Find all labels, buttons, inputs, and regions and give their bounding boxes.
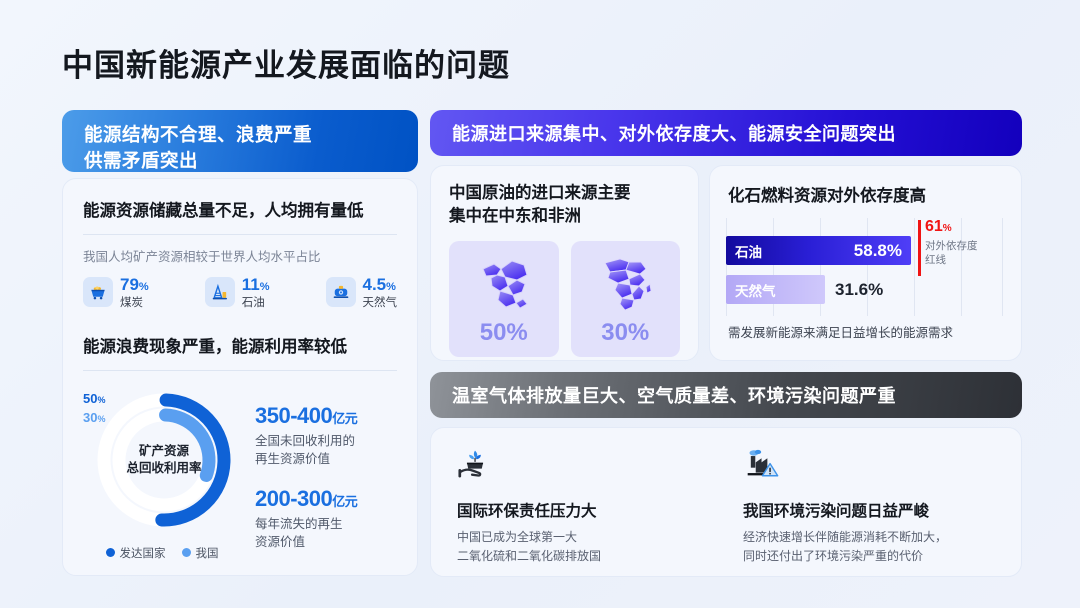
fossil-chart-footnote: 需发展新能源来满足日益增长的能源需求 [728, 322, 1003, 341]
bar-oil-label: 石油 [735, 241, 762, 261]
stat-coal-text: 79% 煤炭 [120, 276, 149, 309]
bar-gas-label: 天然气 [735, 280, 776, 300]
legend-item-china: 我国 [182, 545, 219, 561]
left-header-line2: 供需矛盾突出 [84, 148, 418, 174]
dependency-redline [918, 220, 921, 276]
figure-unrecycled-desc: 全国未回收利用的 再生资源价值 [255, 432, 357, 468]
stat-gas-label: 天然气 [363, 297, 398, 309]
donut-legend: 发达国家 我国 [79, 545, 245, 561]
stat-gas: 4.5% 天然气 [326, 276, 398, 309]
fossil-dependency-bar-chart: 石油 58.8% 天然气 31.6% 61% 对外依存度 红线 [726, 218, 1007, 316]
env-desc-international: 中国已成为全球第一大 二氧化硫和二氧化碳排放国 [457, 528, 713, 565]
right-section-header: 能源进口来源集中、对外依存度大、能源安全问题突出 [430, 110, 1022, 156]
bar-gas: 天然气 [726, 275, 825, 304]
bar-gas-value: 31.6% [835, 280, 883, 300]
env-item-domestic-pollution: 我国环境污染问题日益严峻 经济快速增长伴随能源消耗不断加大， 同时还付出了环境污… [743, 448, 999, 565]
import-sources-card: 中国原油的进口来源主要 集中在中东和非洲 [430, 165, 699, 361]
stat-gas-value: 4.5% [363, 276, 398, 294]
donut-center-line1: 矿产资源 [89, 443, 239, 460]
left-section-header: 能源结构不合理、浪费严重 供需矛盾突出 [62, 110, 418, 172]
stat-coal-value: 79% [120, 276, 149, 294]
infographic-root: 中国新能源产业发展面临的问题 能源结构不合理、浪费严重 供需矛盾突出 能源资源储… [0, 0, 1080, 608]
donut-center-label: 矿产资源 总回收利用率 [89, 443, 239, 477]
figure-lost-number: 200-300亿元 [255, 486, 357, 512]
fossil-dependency-title: 化石燃料资源对外依存度高 [728, 182, 1003, 206]
stat-gas-text: 4.5% 天然气 [363, 276, 398, 309]
bar-oil: 石油 58.8% [726, 236, 911, 265]
donut-outer-label: 50% [83, 391, 105, 406]
import-region-boxes: 50% [431, 229, 698, 357]
middle-east-map-icon [472, 253, 536, 315]
env-title-domestic: 我国环境污染问题日益严峻 [743, 499, 999, 521]
donut-inner-label: 30% [83, 410, 105, 425]
env-item-international-pressure: 国际环保责任压力大 中国已成为全球第一大 二氧化硫和二氧化碳排放国 [457, 448, 713, 565]
resource-stats-row: 79% 煤炭 [83, 276, 397, 309]
stat-oil: 11% 石油 [205, 276, 270, 309]
coal-cart-icon [83, 277, 113, 307]
figure-lost-desc: 每年流失的再生 资源价值 [255, 515, 357, 551]
left-header-line1: 能源结构不合理、浪费严重 [84, 122, 418, 148]
oil-derrick-icon [205, 277, 235, 307]
donut-center-line2: 总回收利用率 [89, 460, 239, 477]
bar-row-gas: 天然气 31.6% [726, 275, 1007, 304]
donut-chart-column: 50% 30% 矿产资源 总回收利用率 发达国家 [79, 385, 245, 561]
stat-oil-label: 石油 [242, 297, 270, 309]
region-africa-percent: 30% [601, 319, 649, 347]
recycling-chart-block: 50% 30% 矿产资源 总回收利用率 发达国家 [63, 371, 417, 561]
legend-label-developed: 发达国家 [120, 545, 166, 561]
stat-oil-value: 11% [242, 276, 270, 294]
redline-value: 61% [925, 218, 952, 236]
figure-lost: 200-300亿元 每年流失的再生 资源价值 [255, 486, 357, 551]
legend-dot-china [182, 548, 191, 557]
right-header-label: 能源进口来源集中、对外依存度大、能源安全问题突出 [452, 120, 896, 146]
per-capita-note: 我国人均矿产资源相较于世界人均水平占比 [83, 246, 397, 265]
left-content-card: 能源资源储藏总量不足，人均拥有量低 我国人均矿产资源相较于世界人均水平占比 [62, 178, 418, 576]
hand-holding-plant-icon [457, 448, 493, 482]
env-desc-domestic: 经济快速增长伴随能源消耗不断加大， 同时还付出了环境污染严重的代价 [743, 528, 999, 565]
recycling-figures-column: 350-400亿元 全国未回收利用的 再生资源价值 200-300亿元 每年流失… [255, 385, 357, 552]
gas-tank-icon [326, 277, 356, 307]
figure-unrecycled: 350-400亿元 全国未回收利用的 再生资源价值 [255, 403, 357, 468]
environment-section-header: 温室气体排放量巨大、空气质量差、环境污染问题严重 [430, 372, 1022, 418]
legend-item-developed: 发达国家 [106, 545, 166, 561]
stat-oil-text: 11% 石油 [242, 276, 270, 309]
region-middle-east: 50% [449, 241, 559, 357]
recycling-donut-chart: 50% 30% 矿产资源 总回收利用率 [89, 385, 239, 535]
stat-coal: 79% 煤炭 [83, 276, 149, 309]
redline-description: 对外依存度 红线 [925, 240, 978, 267]
env-title-international: 国际环保责任压力大 [457, 499, 713, 521]
environment-header-label: 温室气体排放量巨大、空气质量差、环境污染问题严重 [452, 382, 896, 408]
page-title: 中国新能源产业发展面临的问题 [62, 40, 510, 85]
africa-map-icon [596, 253, 654, 315]
figure-unrecycled-number: 350-400亿元 [255, 403, 357, 429]
environment-items: 国际环保责任压力大 中国已成为全球第一大 二氧化硫和二氧化碳排放国 [431, 428, 1021, 565]
polluting-factory-warning-icon [743, 448, 781, 482]
energy-waste-title: 能源浪费现象严重，能源利用率较低 [83, 333, 397, 357]
energy-reserve-title: 能源资源储藏总量不足，人均拥有量低 [83, 197, 397, 221]
fossil-dependency-card: 化石燃料资源对外依存度高 石油 58.8% 天然气 31.6% [709, 165, 1022, 361]
stat-coal-label: 煤炭 [120, 297, 149, 309]
import-sources-title: 中国原油的进口来源主要 集中在中东和非洲 [449, 182, 680, 229]
environment-content-card: 国际环保责任压力大 中国已成为全球第一大 二氧化硫和二氧化碳排放国 [430, 427, 1022, 577]
region-middle-east-percent: 50% [480, 319, 528, 347]
bar-oil-value: 58.8% [854, 241, 902, 261]
legend-dot-developed [106, 548, 115, 557]
legend-label-china: 我国 [196, 545, 219, 561]
region-africa: 30% [571, 241, 681, 357]
